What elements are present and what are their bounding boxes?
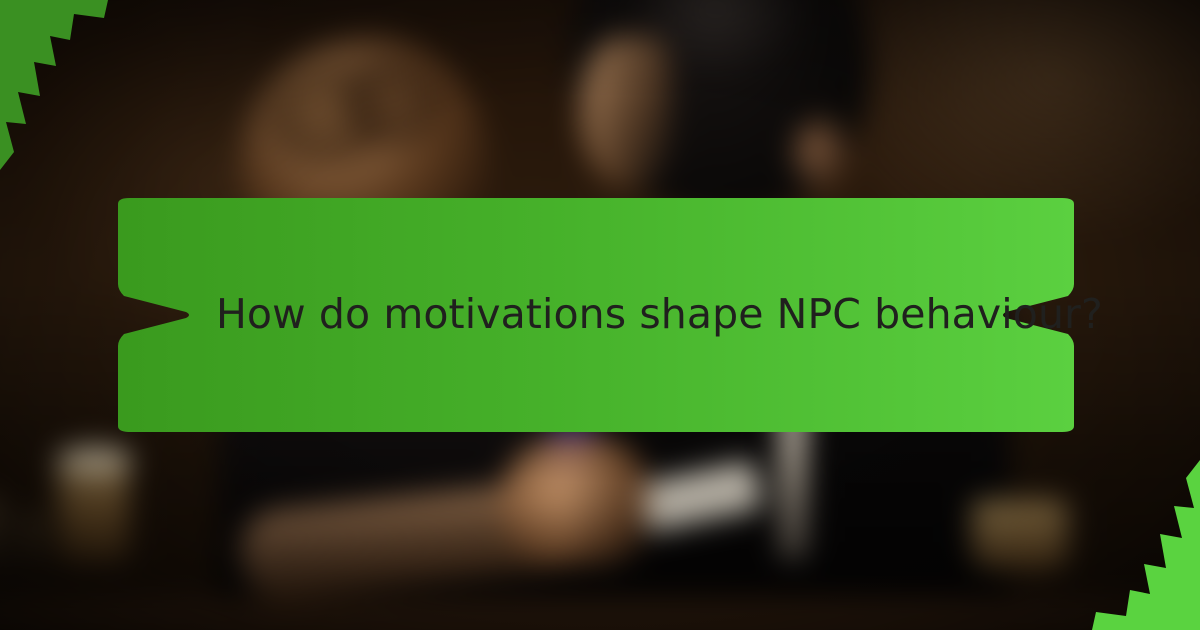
banner-text-wrap: How do motivations shape NPC behaviour? [104, 196, 1088, 434]
page-title: How do motivations shape NPC behaviour? [216, 290, 1103, 339]
share-card: How do motivations shape NPC behaviour? [0, 0, 1200, 630]
headline-banner: How do motivations shape NPC behaviour? [104, 196, 1088, 434]
